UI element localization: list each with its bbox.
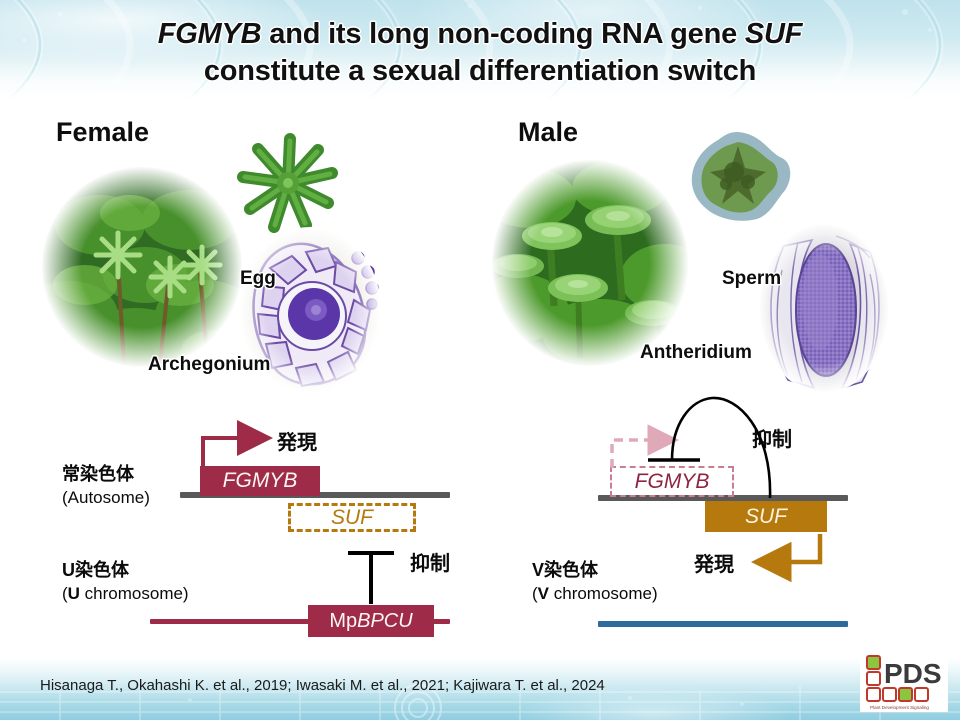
pds-logo-text: PDS xyxy=(884,658,942,689)
autosome-label-jp: 常染色体 xyxy=(62,464,134,484)
pds-logo-mark-icon: PDS Plant Development Signaling xyxy=(860,650,948,712)
v-chromosome-label: V染色体 (V chromosome) xyxy=(532,558,658,606)
antheridium-section-photo xyxy=(758,222,890,394)
autosome-label-en: (Autosome) xyxy=(62,488,150,507)
expression-arrow-left xyxy=(203,438,265,468)
slide-title: FGMYB and its long non-coding RNA gene S… xyxy=(0,16,960,90)
sperm-caption: Sperm xyxy=(722,268,781,290)
u-chromosome-line-right-stub xyxy=(432,619,450,624)
female-marchantia-plants-photo xyxy=(40,165,245,370)
title-middle-text: and its long non-coding RNA gene xyxy=(261,18,744,50)
archegonium-caption: Archegonium xyxy=(148,354,270,376)
pds-logo: PDS Plant Development Signaling xyxy=(860,650,948,712)
mpbpcu-prefix: Mp xyxy=(329,610,357,633)
female-heading: Female xyxy=(56,117,149,148)
gene-box-fgmyb-right: FGMYB xyxy=(610,466,734,497)
inactive-expression-arrow-right xyxy=(612,440,672,468)
male-plants-illustration xyxy=(490,158,690,368)
expression-arrow-right xyxy=(760,534,820,562)
antheridiophore-illustration xyxy=(682,128,794,228)
pds-logo-subtitle: Plant Development Signaling xyxy=(870,705,929,710)
male-heading: Male xyxy=(518,117,578,148)
antheridium-caption: Antheridium xyxy=(640,342,752,364)
v-chromosome-label-en: (V chromosome) xyxy=(532,584,658,603)
v-chromosome-label-jp: V染色体 xyxy=(532,560,598,580)
gene-box-suf-right: SUF xyxy=(705,501,827,532)
slide-canvas: FGMYB and its long non-coding RNA gene S… xyxy=(0,0,960,720)
male-marchantia-plants-photo xyxy=(490,158,690,368)
egg-caption: Egg xyxy=(240,268,276,290)
title-line-2: constitute a sexual differentiation swit… xyxy=(0,53,960,90)
antheridium-histology-illustration xyxy=(758,222,890,394)
title-gene-suf: SUF xyxy=(745,18,802,50)
mpbpcu-italic: BPCU xyxy=(357,610,413,633)
antheridiophore-photo xyxy=(682,128,794,228)
u-chromosome-label-jp: U染色体 xyxy=(62,560,129,580)
u-chromosome-label-en: (U chromosome) xyxy=(62,584,189,603)
female-plants-illustration xyxy=(40,165,245,370)
u-chromosome-line xyxy=(150,619,325,624)
expression-label-left: 発現 xyxy=(277,426,317,455)
repression-tbar-left xyxy=(348,553,394,604)
repression-label-left: 抑制 xyxy=(410,547,450,576)
autosome-label-left: 常染色体 (Autosome) xyxy=(62,462,150,510)
repression-label-right: 抑制 xyxy=(752,423,792,452)
gene-box-fgmyb-left: FGMYB xyxy=(200,466,320,496)
gene-box-mpbpcu: MpBPCU xyxy=(308,605,434,637)
u-chromosome-label: U染色体 (U chromosome) xyxy=(62,558,189,606)
gene-box-suf-left: SUF xyxy=(288,503,416,532)
title-gene-fgmyb: FGMYB xyxy=(158,18,262,50)
v-chromosome-line xyxy=(598,621,848,627)
expression-label-right: 発現 xyxy=(694,548,734,577)
citation-text: Hisanaga T., Okahashi K. et al., 2019; I… xyxy=(40,677,605,694)
title-line-1: FGMYB and its long non-coding RNA gene S… xyxy=(0,16,960,53)
